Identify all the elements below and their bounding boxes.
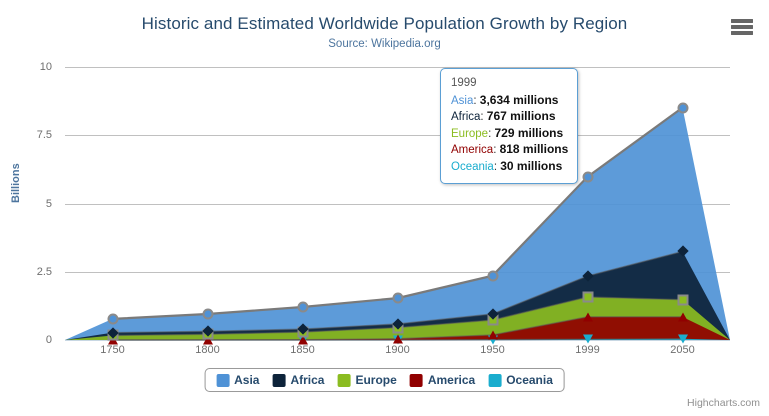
- tooltip-series-name-oceania: Oceania: [451, 161, 494, 173]
- legend-item-asia[interactable]: Asia: [216, 373, 259, 387]
- tooltip-series-value-europe: 729 millions: [494, 126, 563, 140]
- marker-asia-1900[interactable]: [392, 293, 403, 304]
- legend-item-africa[interactable]: Africa: [272, 373, 324, 387]
- legend-label-asia: Asia: [234, 373, 259, 387]
- legend[interactable]: Asia Africa Europe America Oceania: [204, 368, 565, 392]
- tooltip-row-asia: Asia: 3,634 millions: [451, 93, 568, 110]
- marker-america-1999[interactable]: [583, 312, 593, 321]
- legend-label-africa: Africa: [290, 373, 324, 387]
- tooltip-series-value-america: 818 millions: [500, 142, 569, 156]
- marker-oceania-1999[interactable]: [583, 335, 593, 344]
- tooltip-row-oceania: Oceania: 30 millions: [451, 159, 568, 176]
- x-axis-label-1999: 1999: [575, 344, 599, 356]
- menu-bar-2: [731, 25, 753, 29]
- marker-asia-1850[interactable]: [297, 301, 308, 312]
- tooltip-series-name-america: America: [451, 144, 493, 156]
- hamburger-menu-icon[interactable]: [729, 16, 755, 38]
- menu-bar-3: [731, 31, 753, 35]
- legend-label-oceania: Oceania: [506, 373, 553, 387]
- x-axis-label-1900: 1900: [385, 344, 409, 356]
- chart-subtitle: Source: Wikipedia.org: [0, 38, 769, 50]
- marker-america-1950[interactable]: [488, 330, 498, 339]
- marker-asia-1750[interactable]: [107, 313, 118, 324]
- y-axis-label-0: 0: [8, 334, 52, 346]
- marker-america-2050[interactable]: [678, 312, 688, 321]
- y-axis-label-7.5: 7.5: [8, 129, 52, 141]
- marker-europe-2050[interactable]: [677, 294, 688, 305]
- legend-label-america: America: [428, 373, 475, 387]
- y-axis-label-10: 10: [8, 61, 52, 73]
- tooltip-series-value-asia: 3,634 millions: [480, 93, 559, 107]
- legend-swatch-oceania: [488, 374, 501, 387]
- tooltip-series-name-africa: Africa: [451, 111, 480, 123]
- legend-swatch-europe: [337, 374, 350, 387]
- y-axis-label-5: 5: [8, 198, 52, 210]
- legend-item-oceania[interactable]: Oceania: [488, 373, 553, 387]
- tooltip-series-name-asia: Asia: [451, 95, 473, 107]
- tooltip-row-africa: Africa: 767 millions: [451, 109, 568, 126]
- tooltip-series-value-oceania: 30 millions: [500, 159, 562, 173]
- tooltip-series-name-europe: Europe: [451, 128, 488, 140]
- plot-area: [65, 67, 730, 340]
- tooltip-row-america: America: 818 millions: [451, 142, 568, 159]
- tooltip-row-europe: Europe: 729 millions: [451, 126, 568, 143]
- x-axis-label-1950: 1950: [480, 344, 504, 356]
- marker-europe-1999[interactable]: [582, 291, 593, 302]
- tooltip-series-value-africa: 767 millions: [487, 109, 556, 123]
- legend-item-america[interactable]: America: [410, 373, 475, 387]
- legend-swatch-africa: [272, 374, 285, 387]
- highcharts-credit[interactable]: Highcharts.com: [687, 397, 760, 409]
- marker-asia-2050[interactable]: [677, 102, 688, 113]
- marker-oceania-2050[interactable]: [678, 334, 688, 343]
- marker-asia-1800[interactable]: [202, 309, 213, 320]
- y-axis-label-2.5: 2.5: [8, 266, 52, 278]
- x-axis-label-1850: 1850: [290, 344, 314, 356]
- legend-label-europe: Europe: [355, 373, 396, 387]
- marker-asia-1999[interactable]: [582, 171, 593, 182]
- legend-item-europe[interactable]: Europe: [337, 373, 396, 387]
- x-axis-label-1800: 1800: [195, 344, 219, 356]
- x-axis-label-1750: 1750: [100, 344, 124, 356]
- page-title: Historic and Estimated Worldwide Populat…: [0, 14, 769, 34]
- marker-america-1900[interactable]: [393, 334, 403, 343]
- tooltip-year: 1999: [451, 76, 568, 93]
- tooltip-rows: Asia: 3,634 millionsAfrica: 767 millions…: [451, 93, 568, 176]
- legend-swatch-america: [410, 374, 423, 387]
- chart-container: Historic and Estimated Worldwide Populat…: [0, 0, 769, 416]
- x-axis-label-2050: 2050: [670, 344, 694, 356]
- legend-swatch-asia: [216, 374, 229, 387]
- tooltip: 1999 Asia: 3,634 millionsAfrica: 767 mil…: [440, 68, 578, 184]
- marker-asia-1950[interactable]: [487, 270, 498, 281]
- menu-bar-1: [731, 19, 753, 23]
